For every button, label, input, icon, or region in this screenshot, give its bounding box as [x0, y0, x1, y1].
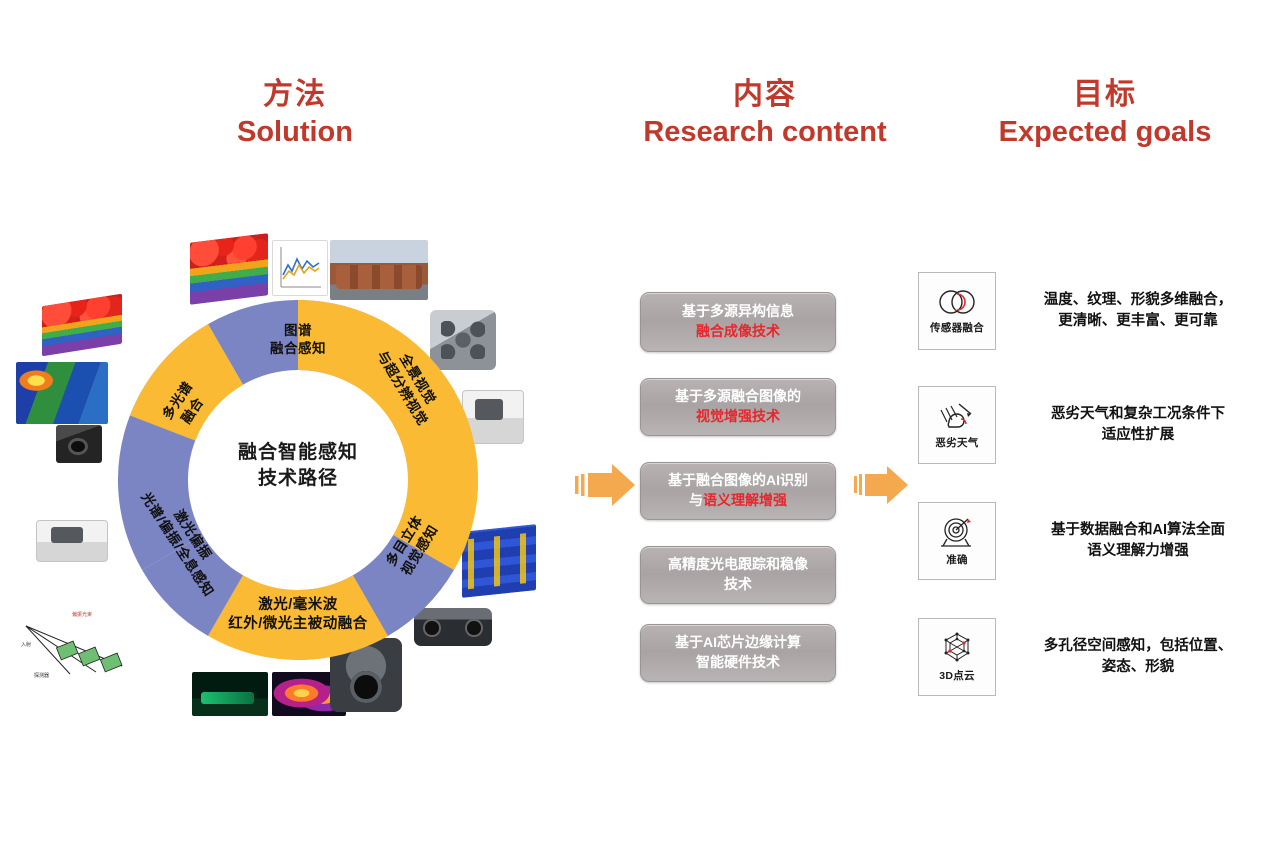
- header-goals-en: Expected goals: [940, 115, 1268, 150]
- research-box-5-line2: 智能硬件技术: [675, 653, 801, 673]
- goal-text-1-line2: 更清晰、更丰富、更可靠: [1018, 311, 1258, 332]
- column-header-solution: 方法 Solution: [170, 78, 420, 149]
- collage-image-spectral-curve-plot: [272, 240, 328, 296]
- research-box-5-line1: 基于AI芯片边缘计算: [675, 633, 801, 653]
- column-header-goals: 目标 Expected goals: [940, 78, 1268, 149]
- goal-icon-caption-3: 准确: [946, 552, 968, 567]
- research-box-2[interactable]: 基于多源融合图像的 视觉增强技术: [640, 378, 836, 436]
- collage-image-hyperspectral-cube-apples: [190, 233, 268, 305]
- donut-center-line2: 技术路径: [200, 466, 396, 492]
- arrow-solution-to-content: [575, 462, 637, 513]
- donut-label-bottom-line2: 红外/微光主被动融合: [148, 615, 448, 634]
- donut-label-bottom-line1: 激光/毫米波: [148, 596, 448, 615]
- header-content-cn: 内容: [600, 78, 930, 113]
- research-box-2-line1: 基于多源融合图像的: [675, 387, 801, 407]
- research-box-1-line2: 融合成像技术: [682, 322, 794, 342]
- solution-donut-chart: 融合智能感知 技术路径 图谱 融合感知 全景视觉 与超分辨视觉 多目立体 视觉感…: [118, 300, 478, 660]
- svg-text:偏振光束: 偏振光束: [72, 611, 92, 618]
- goal-text-1-line1: 温度、纹理、形貌多维融合，: [1018, 290, 1258, 311]
- goal-text-3-line2: 语义理解力增强: [1018, 541, 1258, 562]
- svg-text:入射: 入射: [21, 641, 31, 648]
- donut-label-bottom: 激光/毫米波 红外/微光主被动融合: [148, 596, 448, 634]
- goal-icon-caption-4: 3D点云: [939, 668, 975, 683]
- collage-image-thermal-infrared-scene: [16, 362, 108, 424]
- goal-text-3: 基于数据融合和AI算法全面 语义理解力增强: [1018, 520, 1258, 562]
- research-box-3[interactable]: 基于融合图像的AI识别 与语义理解增强: [640, 462, 836, 520]
- goal-row-2: 恶劣天气 恶劣天气和复杂工况条件下 适应性扩展: [918, 386, 1258, 464]
- svg-text:探测器: 探测器: [34, 672, 49, 679]
- collage-image-optical-instrument: [36, 520, 108, 562]
- donut-label-top: 图谱 融合感知: [225, 322, 371, 357]
- collage-image-industrial-pipe-inspection: [330, 240, 428, 300]
- donut-label-top-line1: 图谱: [225, 322, 371, 340]
- donut-center-line1: 融合智能感知: [200, 440, 396, 466]
- research-box-1-line1: 基于多源异构信息: [682, 302, 794, 322]
- column-header-content: 内容 Research content: [600, 78, 930, 149]
- goal-text-3-line1: 基于数据融合和AI算法全面: [1018, 520, 1258, 541]
- goal-icon-caption-1: 传感器融合: [930, 320, 984, 335]
- research-box-3-prefix: 与: [689, 492, 703, 508]
- goal-text-4-line1: 多孔径空间感知，包括位置、: [1018, 636, 1258, 657]
- header-solution-cn: 方法: [170, 78, 420, 113]
- collage-image-industrial-camera: [56, 425, 102, 463]
- research-box-4-line2: 技术: [668, 575, 808, 595]
- donut-label-top-line2: 融合感知: [225, 340, 371, 358]
- collage-image-spectral-layer-stack: [42, 294, 122, 357]
- research-box-4[interactable]: 高精度光电跟踪和稳像 技术: [640, 546, 836, 604]
- point-cloud-icon[interactable]: 3D点云: [918, 618, 996, 696]
- goal-text-1: 温度、纹理、形貌多维融合， 更清晰、更丰富、更可靠: [1018, 290, 1258, 332]
- goal-text-2-line2: 适应性扩展: [1018, 425, 1258, 446]
- research-box-3-line2: 与语义理解增强: [668, 491, 808, 511]
- goal-text-4-line2: 姿态、形貌: [1018, 657, 1258, 678]
- goal-row-4: 3D点云 多孔径空间感知，包括位置、 姿态、形貌: [918, 618, 1258, 696]
- goal-icon-caption-2: 恶劣天气: [935, 435, 978, 450]
- research-box-5[interactable]: 基于AI芯片边缘计算 智能硬件技术: [640, 624, 836, 682]
- goal-text-4: 多孔径空间感知，包括位置、 姿态、形貌: [1018, 636, 1258, 678]
- bad-weather-icon[interactable]: 恶劣天气: [918, 386, 996, 464]
- research-box-2-line2: 视觉增强技术: [675, 407, 801, 427]
- sensor-fusion-icon[interactable]: 传感器融合: [918, 272, 996, 350]
- research-box-1[interactable]: 基于多源异构信息 融合成像技术: [640, 292, 836, 352]
- donut-center-label: 融合智能感知 技术路径: [200, 440, 396, 491]
- arrow-content-to-goals: [854, 464, 910, 511]
- goal-text-2-line1: 恶劣天气和复杂工况条件下: [1018, 404, 1258, 425]
- accuracy-target-icon[interactable]: 准确: [918, 502, 996, 580]
- diagram-canvas: 方法 Solution 内容 Research content 目标 Expec…: [0, 0, 1268, 866]
- header-solution-en: Solution: [170, 115, 420, 150]
- goal-text-2: 恶劣天气和复杂工况条件下 适应性扩展: [1018, 404, 1258, 446]
- header-goals-cn: 目标: [940, 78, 1268, 113]
- header-content-en: Research content: [600, 115, 930, 150]
- research-box-4-line1: 高精度光电跟踪和稳像: [668, 555, 808, 575]
- research-box-3-highlight: 语义理解增强: [703, 492, 787, 508]
- research-box-3-line1: 基于融合图像的AI识别: [668, 471, 808, 491]
- goal-row-1: 传感器融合 温度、纹理、形貌多维融合， 更清晰、更丰富、更可靠: [918, 272, 1258, 350]
- collage-image-night-vision-display: [192, 672, 268, 716]
- goal-row-3: 准确 基于数据融合和AI算法全面 语义理解力增强: [918, 502, 1258, 580]
